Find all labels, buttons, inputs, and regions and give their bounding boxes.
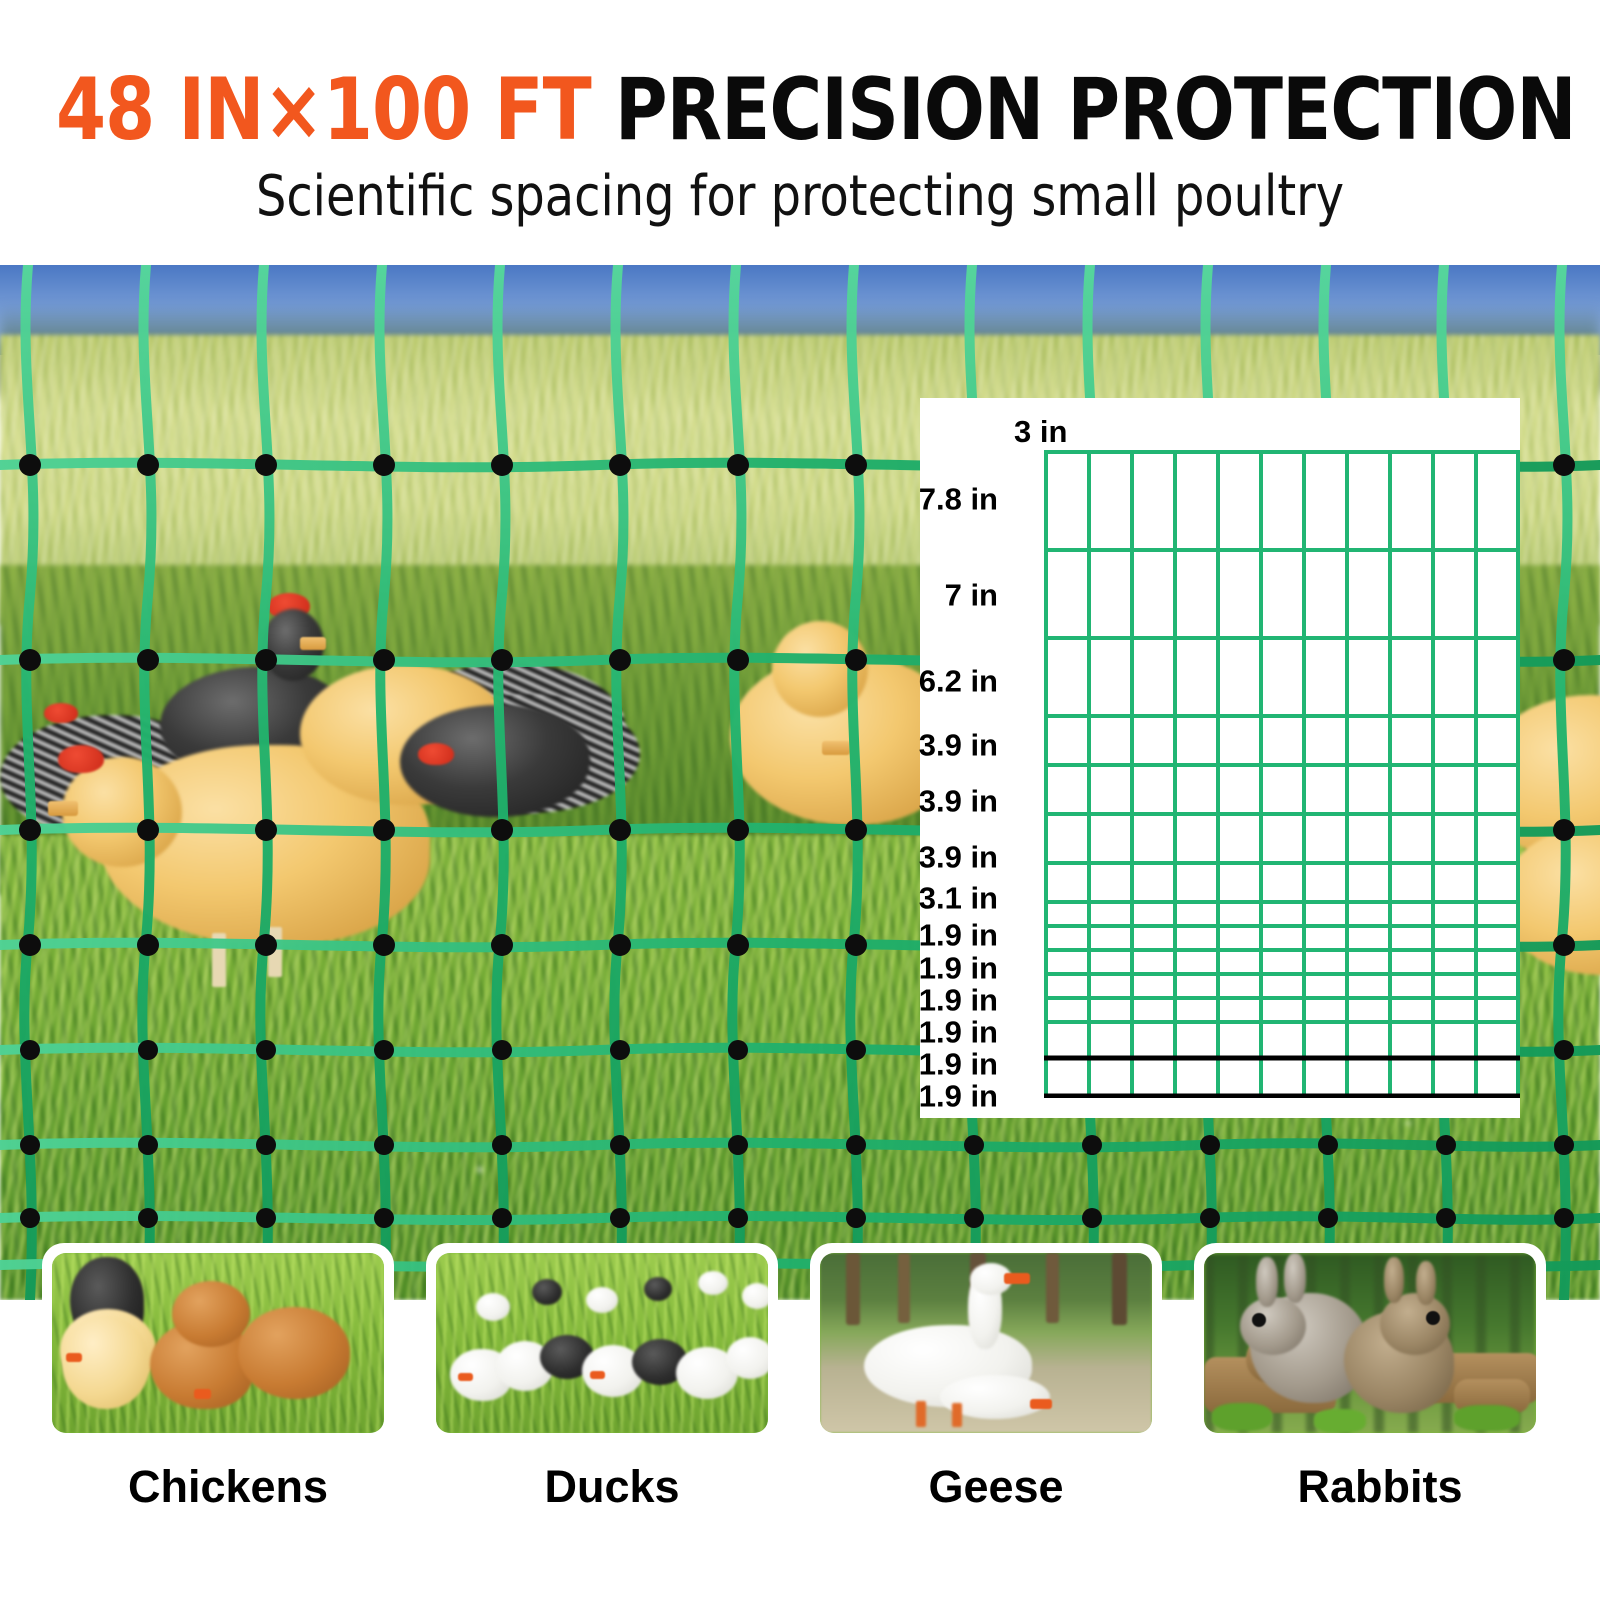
tree-trunk (898, 1253, 910, 1323)
bill-icon (590, 1371, 605, 1379)
beak-icon (48, 801, 78, 816)
headline-main-text: PRECISION PROTECTION (615, 60, 1576, 160)
rabbit-ear (1256, 1257, 1278, 1307)
duck-blob (698, 1271, 728, 1295)
rabbit-head (1240, 1297, 1306, 1355)
bill-icon (1004, 1273, 1030, 1284)
row-label-3: 6.2 in (919, 666, 998, 697)
row-label-6: 3.9 in (919, 842, 998, 873)
row-label-9: 1.9 in (919, 953, 998, 984)
comb-icon (44, 703, 78, 723)
duck-blob (644, 1277, 672, 1301)
header-banner: 48 IN×100 FT PRECISION PROTECTION Scient… (0, 0, 1600, 265)
grass-tuft (1314, 1409, 1366, 1433)
chicken-buff-right-head (772, 621, 868, 717)
grass-tuft (1212, 1403, 1272, 1431)
beak-icon (66, 1353, 82, 1362)
beak-icon (300, 637, 326, 650)
duck-blob (586, 1287, 618, 1313)
grid-horizontal-lines (1044, 452, 1520, 1022)
spacing-grid (1044, 450, 1520, 1098)
rabbit-eye (1252, 1313, 1266, 1327)
bill-icon (458, 1373, 473, 1381)
card-photo-geese (820, 1253, 1152, 1433)
card-geese[interactable]: Geese (810, 1243, 1162, 1443)
comb-icon (418, 743, 454, 765)
row-label-12: 1.9 in (919, 1049, 998, 1080)
animal-card-strip: Chickens Ducks (0, 1243, 1600, 1600)
row-label-13: 1.9 in (919, 1081, 998, 1112)
beak-icon (194, 1389, 211, 1399)
card-rabbits[interactable]: Rabbits (1194, 1243, 1546, 1443)
card-photo-chickens (52, 1253, 384, 1433)
duck-blob (726, 1337, 768, 1379)
card-caption-ducks: Ducks (436, 1461, 788, 1513)
rabbit-eye (1426, 1311, 1440, 1325)
row-label-1: 7.8 in (919, 484, 998, 515)
headline-size-text: 48 IN×100 FT (56, 60, 591, 160)
rabbit-ear (1416, 1261, 1436, 1305)
row-label-4: 3.9 in (919, 730, 998, 761)
page-title: 48 IN×100 FT PRECISION PROTECTION (56, 60, 1544, 160)
row-label-8: 1.9 in (919, 920, 998, 951)
duck-blob (532, 1279, 562, 1305)
card-chickens[interactable]: Chickens (42, 1243, 394, 1443)
leg-icon (212, 933, 226, 987)
card-caption-chickens: Chickens (52, 1461, 404, 1513)
tree-trunk (1046, 1253, 1059, 1323)
leg-icon (916, 1401, 926, 1427)
card-ducks[interactable]: Ducks (426, 1243, 778, 1443)
grid-baseline-lines (1044, 1058, 1520, 1096)
leg-icon (952, 1403, 962, 1427)
card-photo-rabbits (1204, 1253, 1536, 1433)
comb-icon (58, 745, 104, 773)
rabbit-ear (1284, 1253, 1306, 1303)
grass-tuft (1454, 1405, 1520, 1431)
leg-icon (268, 927, 282, 977)
tree-trunk (1112, 1253, 1127, 1325)
card-caption-rabbits: Rabbits (1204, 1461, 1556, 1513)
mesh-spacing-diagram: 3 in 7.8 in 7 in 6.2 in 3.9 in 3.9 in 3.… (920, 398, 1520, 1118)
bill-icon (1030, 1399, 1052, 1409)
chicken-blob (62, 1315, 150, 1409)
duck-blob (476, 1293, 510, 1321)
page-subtitle: Scientific spacing for protecting small … (40, 166, 1560, 228)
row-label-7: 3.1 in (919, 883, 998, 914)
duck-blob (742, 1283, 768, 1309)
grid-vertical-lines (1046, 450, 1518, 1098)
tree-trunk (846, 1253, 860, 1325)
card-caption-geese: Geese (820, 1461, 1172, 1513)
row-label-10: 1.9 in (919, 985, 998, 1016)
chicken-buff-main-neck (62, 757, 182, 867)
beak-icon (822, 741, 850, 755)
row-label-5: 3.9 in (919, 786, 998, 817)
chicken-blob (172, 1281, 250, 1347)
chicken-blob (238, 1307, 350, 1399)
card-photo-ducks (436, 1253, 768, 1433)
rabbit-ear (1384, 1257, 1404, 1303)
row-label-2: 7 in (945, 580, 998, 611)
horizontal-spacing-label: 3 in (1014, 416, 1067, 447)
row-label-11: 1.9 in (919, 1017, 998, 1048)
